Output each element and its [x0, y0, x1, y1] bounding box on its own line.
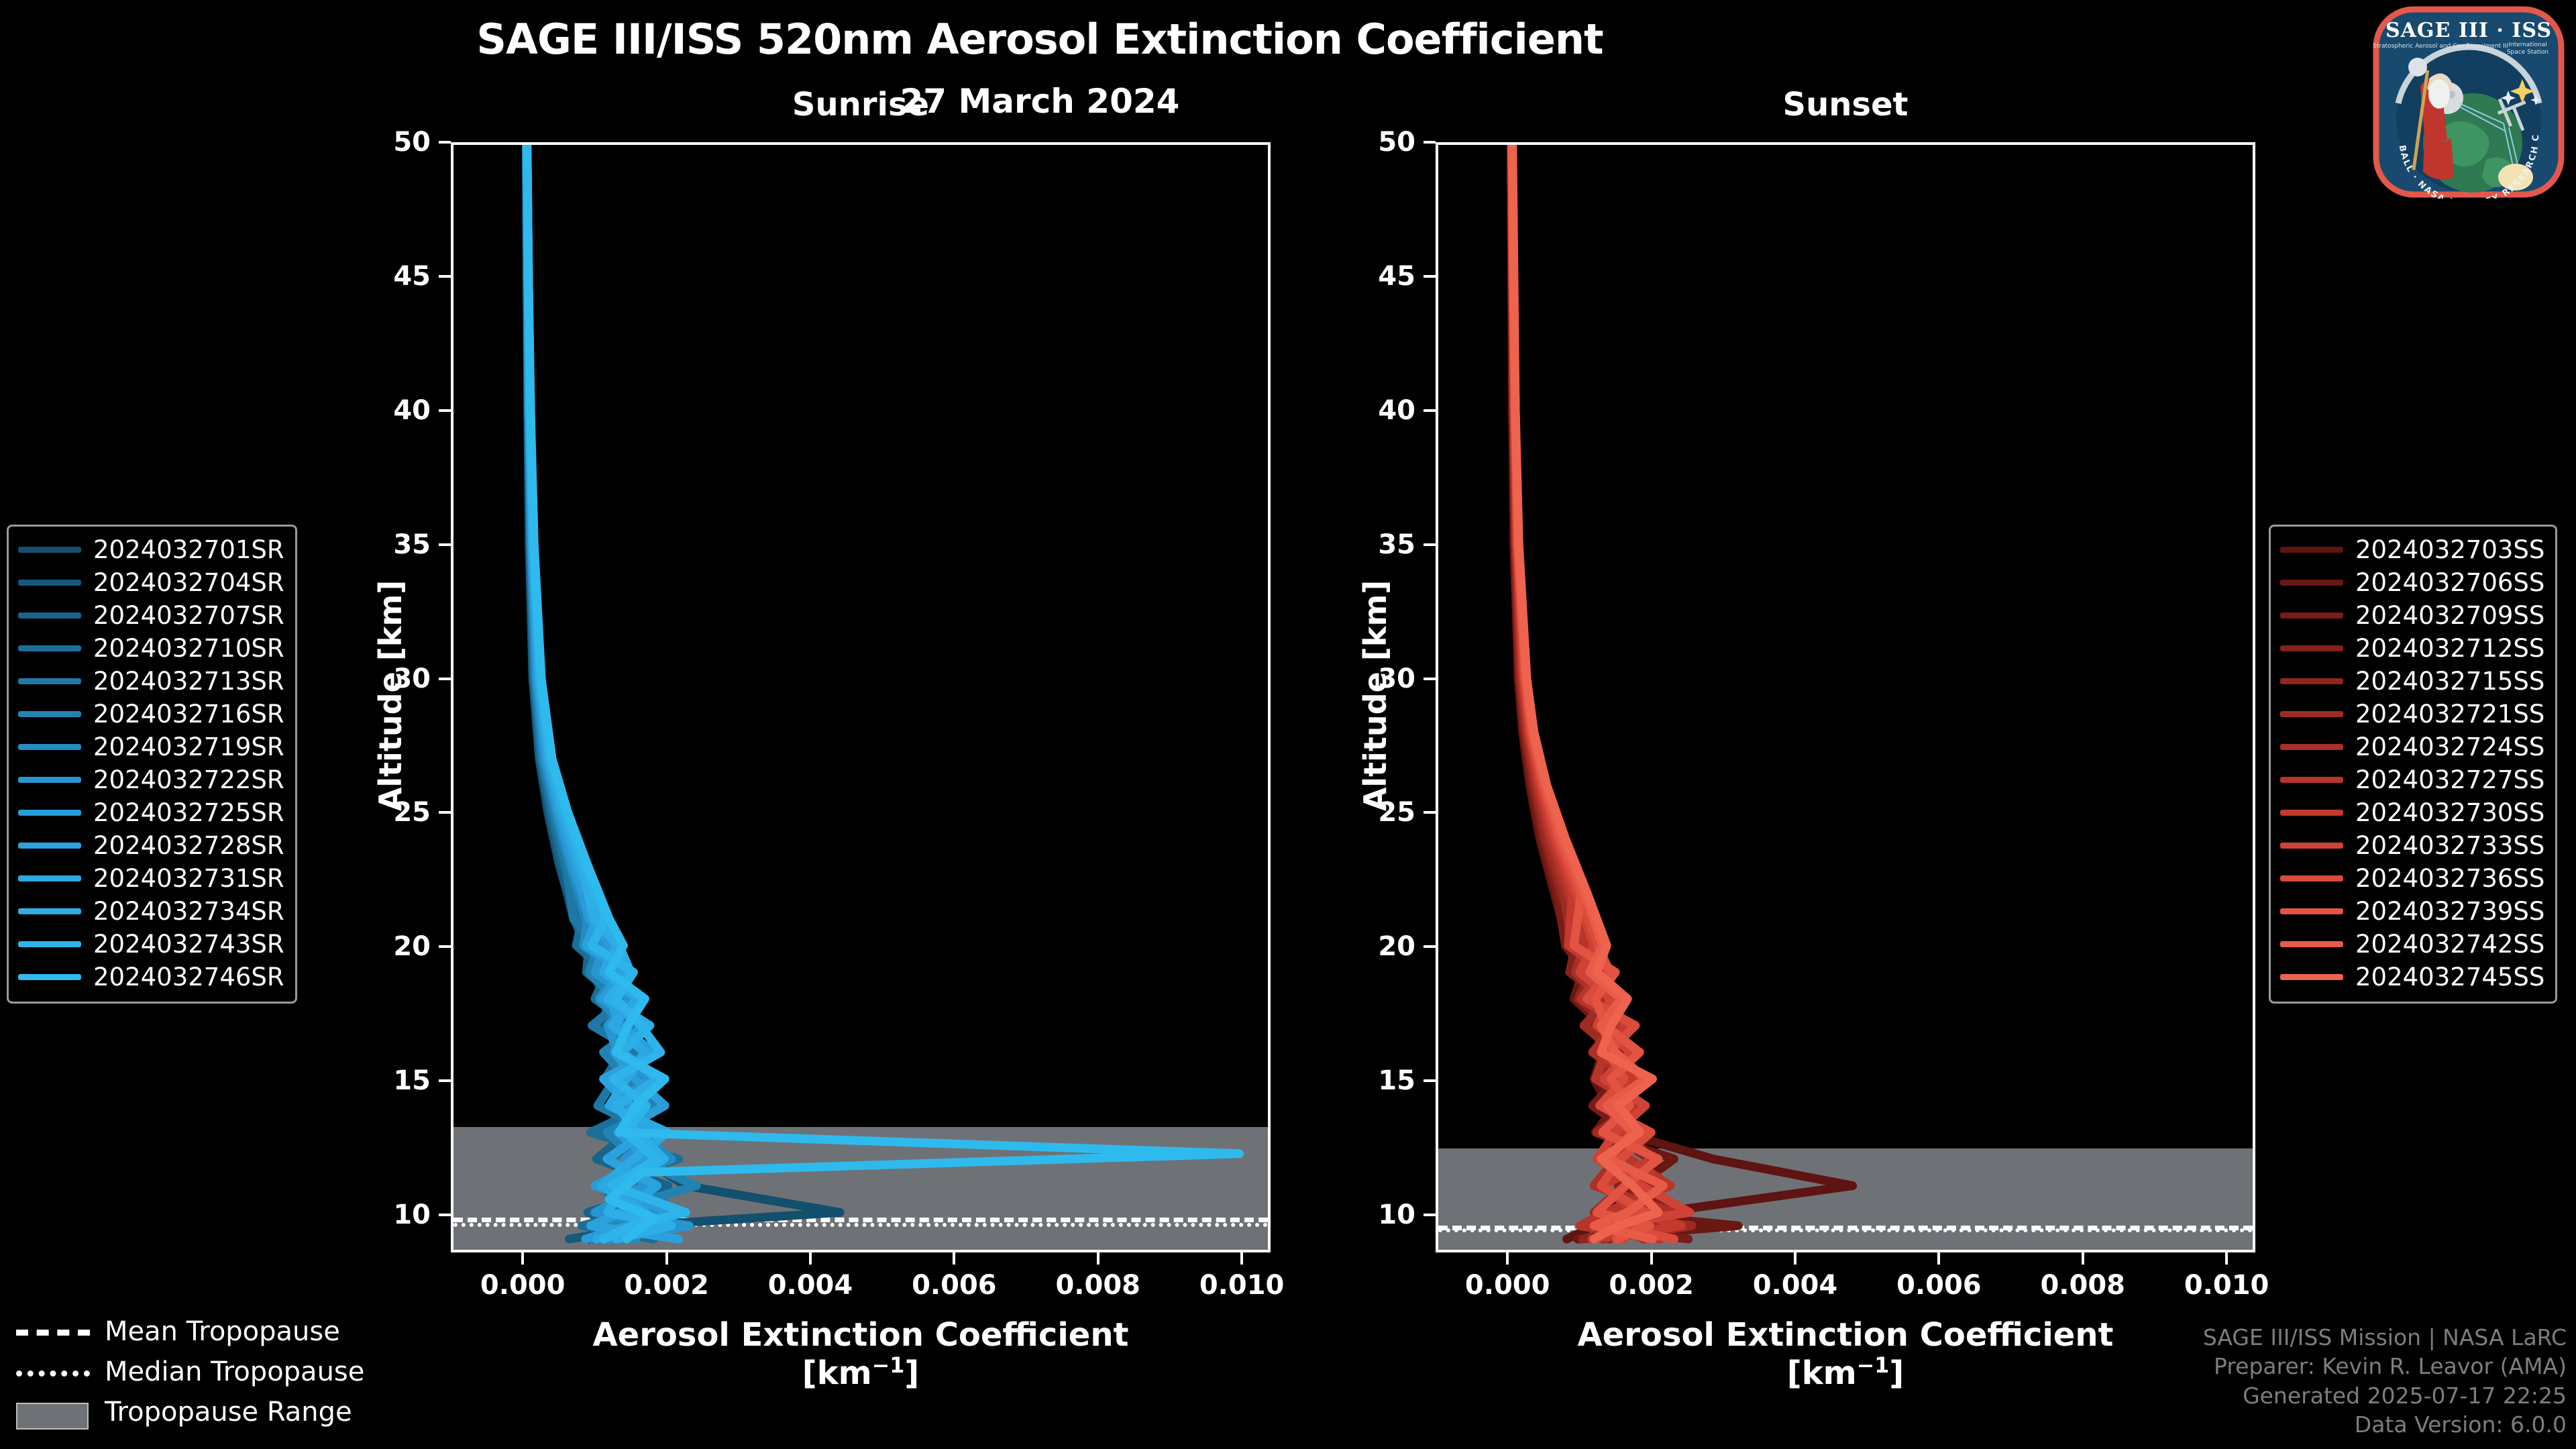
svg-text:International: International — [2508, 42, 2546, 48]
legend-key — [16, 1405, 90, 1419]
y-tick-mark — [439, 811, 451, 814]
profile-line — [1513, 145, 1658, 1239]
legend-color-swatch — [2280, 908, 2343, 914]
plot-area-sunrise — [451, 142, 1271, 1252]
legend-item[interactable]: 2024032710SR — [18, 632, 284, 665]
legend-item-label: 2024032703SS — [2355, 535, 2544, 564]
legend-key — [16, 1324, 90, 1339]
legend-item[interactable]: 2024032715SS — [2280, 665, 2544, 698]
legend-item[interactable]: 2024032721SS — [2280, 698, 2544, 731]
credit-line: Generated 2025-07-17 22:25 — [2203, 1381, 2567, 1411]
legend-item-label: 2024032712SS — [2355, 634, 2544, 663]
panel-title-sunrise: Sunrise — [451, 86, 1271, 123]
y-tick-mark — [1424, 945, 1436, 948]
x-tick-mark — [953, 1252, 955, 1265]
range-band-icon — [16, 1403, 89, 1430]
y-tick-label: 50 — [343, 127, 431, 158]
y-tick-mark — [439, 543, 451, 546]
x-tick-label: 0.004 — [737, 1270, 884, 1301]
legend-color-swatch — [18, 843, 81, 849]
y-tick-mark — [439, 1214, 451, 1216]
x-tick-label: 0.004 — [1721, 1270, 1869, 1301]
x-tick-label: 0.010 — [2153, 1270, 2300, 1301]
y-tick-label: 20 — [1328, 931, 1415, 962]
x-tick-label: 0.008 — [1024, 1270, 1172, 1301]
legend-item[interactable]: 2024032701SR — [18, 533, 284, 566]
legend-color-swatch — [2280, 810, 2343, 816]
legend-item[interactable]: 2024032745SS — [2280, 961, 2544, 994]
y-tick-mark — [1424, 811, 1436, 814]
legend-color-swatch — [18, 810, 81, 816]
legend-item-label: 2024032746SR — [93, 963, 284, 991]
legend-item-label: 2024032725SR — [93, 798, 284, 827]
x-tick-mark — [1240, 1252, 1243, 1265]
legend-color-swatch — [18, 777, 81, 783]
y-tick-mark — [439, 275, 451, 278]
legend-item-label: 2024032745SS — [2355, 963, 2544, 991]
legend-tropopause: Mean Tropopause Median Tropopause Tropop… — [16, 1311, 364, 1432]
y-tick-label: 40 — [343, 395, 431, 426]
legend-item[interactable]: 2024032707SR — [18, 599, 284, 632]
x-tick-mark — [1794, 1252, 1796, 1265]
legend-item-label: 2024032722SR — [93, 765, 284, 794]
sage-iii-iss-mission-patch-logo: SAGE III · ISS Stratospheric Aerosol and… — [2372, 5, 2565, 199]
y-tick-mark — [1424, 678, 1436, 680]
y-tick-label: 10 — [1328, 1199, 1415, 1230]
legend-color-swatch — [18, 580, 81, 586]
tropopause-legend-item[interactable]: Tropopause Range — [16, 1392, 364, 1432]
credit-line: Data Version: 6.0.0 — [2203, 1410, 2567, 1440]
legend-item[interactable]: 2024032713SR — [18, 665, 284, 698]
x-axis-label: Aerosol Extinction Coefficient[km−1] — [1436, 1317, 2255, 1392]
svg-text:Stratospheric Aerosol and Gas: Stratospheric Aerosol and Gas Experiment… — [2373, 43, 2508, 50]
profile-line — [1511, 145, 1853, 1239]
extinction-profiles-sunset — [1438, 145, 2253, 1250]
legend-item[interactable]: 2024032725SR — [18, 796, 284, 829]
legend-item-label: 2024032733SS — [2355, 831, 2544, 860]
legend-item[interactable]: 2024032709SS — [2280, 599, 2544, 632]
x-tick-label: 0.000 — [1434, 1270, 1581, 1301]
x-tick-mark — [1650, 1252, 1653, 1265]
dotted-line-icon — [16, 1371, 90, 1377]
legend-item-label: 2024032730SS — [2355, 798, 2544, 827]
legend-item[interactable]: 2024032739SS — [2280, 895, 2544, 928]
legend-color-swatch — [18, 711, 81, 717]
legend-item[interactable]: 2024032722SR — [18, 763, 284, 796]
legend-color-swatch — [18, 547, 81, 553]
legend-item-label: 2024032706SS — [2355, 568, 2544, 597]
y-tick-mark — [1424, 543, 1436, 546]
legend-item-label: 2024032709SS — [2355, 601, 2544, 630]
legend-color-swatch — [2280, 711, 2343, 717]
legend-color-swatch — [18, 974, 81, 980]
x-tick-label: 0.010 — [1168, 1270, 1316, 1301]
tropopause-legend-item[interactable]: Mean Tropopause — [16, 1311, 364, 1352]
legend-item-label: 2024032713SR — [93, 667, 284, 696]
legend-item[interactable]: 2024032730SS — [2280, 796, 2544, 829]
legend-color-swatch — [2280, 941, 2343, 947]
y-tick-label: 20 — [343, 931, 431, 962]
legend-item-label: 2024032701SR — [93, 535, 284, 564]
legend-color-swatch — [18, 678, 81, 684]
legend-color-swatch — [2280, 547, 2343, 553]
y-tick-label: 45 — [1328, 261, 1415, 292]
figure-title: SAGE III/ISS 520nm Aerosol Extinction Co… — [0, 15, 2080, 64]
legend-item[interactable]: 2024032746SR — [18, 961, 284, 994]
y-tick-mark — [1424, 275, 1436, 278]
legend-item[interactable]: 2024032736SS — [2280, 862, 2544, 895]
y-tick-mark — [439, 678, 451, 680]
legend-color-swatch — [2280, 580, 2343, 586]
x-tick-mark — [1506, 1252, 1509, 1265]
legend-color-swatch — [18, 744, 81, 750]
credit-line: SAGE III/ISS Mission | NASA LaRC — [2203, 1323, 2567, 1352]
legend-color-swatch — [18, 612, 81, 619]
legend-item-label: 2024032715SS — [2355, 667, 2544, 696]
x-tick-label: 0.002 — [1578, 1270, 1725, 1301]
legend-color-swatch — [2280, 875, 2343, 881]
panel-title-sunset: Sunset — [1436, 86, 2255, 123]
legend-item-label: 2024032724SS — [2355, 733, 2544, 761]
profile-line — [527, 145, 841, 1239]
legend-item-label: 2024032731SR — [93, 864, 284, 893]
x-tick-label: 0.008 — [2009, 1270, 2157, 1301]
legend-item[interactable]: 2024032743SR — [18, 928, 284, 961]
y-tick-label: 10 — [343, 1199, 431, 1230]
dashed-line-icon — [16, 1330, 90, 1336]
figure-canvas: SAGE III/ISS 520nm Aerosol Extinction Co… — [0, 0, 2576, 1449]
legend-item[interactable]: 2024032724SS — [2280, 731, 2544, 763]
legend-item-label: 2024032721SS — [2355, 700, 2544, 729]
tropopause-legend-label: Tropopause Range — [105, 1397, 352, 1428]
legend-color-swatch — [18, 941, 81, 947]
legend-item[interactable]: 2024032734SR — [18, 895, 284, 928]
extinction-profiles-sunrise — [453, 145, 1268, 1250]
x-tick-mark — [2225, 1252, 2228, 1265]
legend-item[interactable]: 2024032703SS — [2280, 533, 2544, 566]
x-tick-mark — [665, 1252, 668, 1265]
y-tick-mark — [1424, 1079, 1436, 1082]
legend-color-swatch — [2280, 974, 2343, 980]
profile-line — [1512, 145, 1692, 1239]
tropopause-legend-label: Mean Tropopause — [105, 1316, 340, 1347]
legend-item-label: 2024032743SR — [93, 930, 284, 959]
legend-color-swatch — [2280, 612, 2343, 619]
legend-color-swatch — [18, 908, 81, 914]
x-tick-mark — [1097, 1252, 1099, 1265]
tropopause-legend-item[interactable]: Median Tropopause — [16, 1352, 364, 1392]
legend-item[interactable]: 2024032731SR — [18, 862, 284, 895]
legend-item-label: 2024032728SR — [93, 831, 284, 860]
legend-item-label: 2024032739SS — [2355, 897, 2544, 926]
legend-item-label: 2024032742SS — [2355, 930, 2544, 959]
y-tick-label: 45 — [343, 261, 431, 292]
legend-sunrise[interactable]: 2024032701SR 2024032704SR 2024032707SR 2… — [7, 525, 297, 1004]
x-axis-label: Aerosol Extinction Coefficient[km−1] — [451, 1317, 1271, 1392]
y-tick-mark — [439, 945, 451, 948]
x-tick-mark — [809, 1252, 812, 1265]
legend-color-swatch — [18, 875, 81, 881]
legend-item[interactable]: 2024032733SS — [2280, 829, 2544, 862]
legend-item-label: 2024032734SR — [93, 897, 284, 926]
y-tick-mark — [1424, 141, 1436, 144]
y-tick-mark — [439, 1079, 451, 1082]
legend-item[interactable]: 2024032712SS — [2280, 632, 2544, 665]
legend-color-swatch — [2280, 744, 2343, 750]
x-tick-mark — [1937, 1252, 1940, 1265]
y-tick-mark — [439, 409, 451, 412]
svg-text:Space Station: Space Station — [2507, 49, 2548, 56]
legend-item[interactable]: 2024032716SR — [18, 698, 284, 731]
legend-item[interactable]: 2024032704SR — [18, 566, 284, 599]
y-tick-label: 40 — [1328, 395, 1415, 426]
legend-item-label: 2024032719SR — [93, 733, 284, 761]
credit-line: Preparer: Kevin R. Leavor (AMA) — [2203, 1352, 2567, 1381]
x-tick-label: 0.006 — [1865, 1270, 2012, 1301]
legend-color-swatch — [2280, 645, 2343, 651]
legend-color-swatch — [2280, 843, 2343, 849]
y-tick-mark — [1424, 409, 1436, 412]
y-tick-label: 15 — [1328, 1065, 1415, 1096]
legend-item-label: 2024032736SS — [2355, 864, 2544, 893]
x-tick-label: 0.000 — [449, 1270, 596, 1301]
legend-item-label: 2024032704SR — [93, 568, 284, 597]
y-tick-mark — [1424, 1214, 1436, 1216]
legend-item[interactable]: 2024032719SR — [18, 731, 284, 763]
legend-sunset[interactable]: 2024032703SS 2024032706SS 2024032709SS 2… — [2269, 525, 2557, 1004]
y-tick-mark — [439, 141, 451, 144]
legend-item[interactable]: 2024032728SR — [18, 829, 284, 862]
legend-color-swatch — [2280, 777, 2343, 783]
y-axis-label: Altitude [km] — [1357, 555, 1393, 837]
legend-color-swatch — [2280, 678, 2343, 684]
legend-item-label: 2024032707SR — [93, 601, 284, 630]
y-tick-label: 50 — [1328, 127, 1415, 158]
legend-item[interactable]: 2024032742SS — [2280, 928, 2544, 961]
legend-color-swatch — [18, 645, 81, 651]
x-tick-mark — [521, 1252, 524, 1265]
legend-item-label: 2024032716SR — [93, 700, 284, 729]
y-tick-label: 15 — [343, 1065, 431, 1096]
legend-item[interactable]: 2024032727SS — [2280, 763, 2544, 796]
svg-text:SAGE III · ISS: SAGE III · ISS — [2385, 19, 2552, 42]
legend-item[interactable]: 2024032706SS — [2280, 566, 2544, 599]
legend-key — [16, 1364, 90, 1379]
x-tick-label: 0.006 — [880, 1270, 1028, 1301]
tropopause-legend-label: Median Tropopause — [105, 1356, 364, 1387]
legend-item-label: 2024032727SS — [2355, 765, 2544, 794]
x-tick-mark — [2082, 1252, 2084, 1265]
y-axis-label: Altitude [km] — [372, 555, 409, 837]
x-tick-label: 0.002 — [593, 1270, 741, 1301]
credits-block: SAGE III/ISS Mission | NASA LaRCPreparer… — [2203, 1323, 2567, 1440]
legend-item-label: 2024032710SR — [93, 634, 284, 663]
plot-area-sunset — [1436, 142, 2255, 1252]
